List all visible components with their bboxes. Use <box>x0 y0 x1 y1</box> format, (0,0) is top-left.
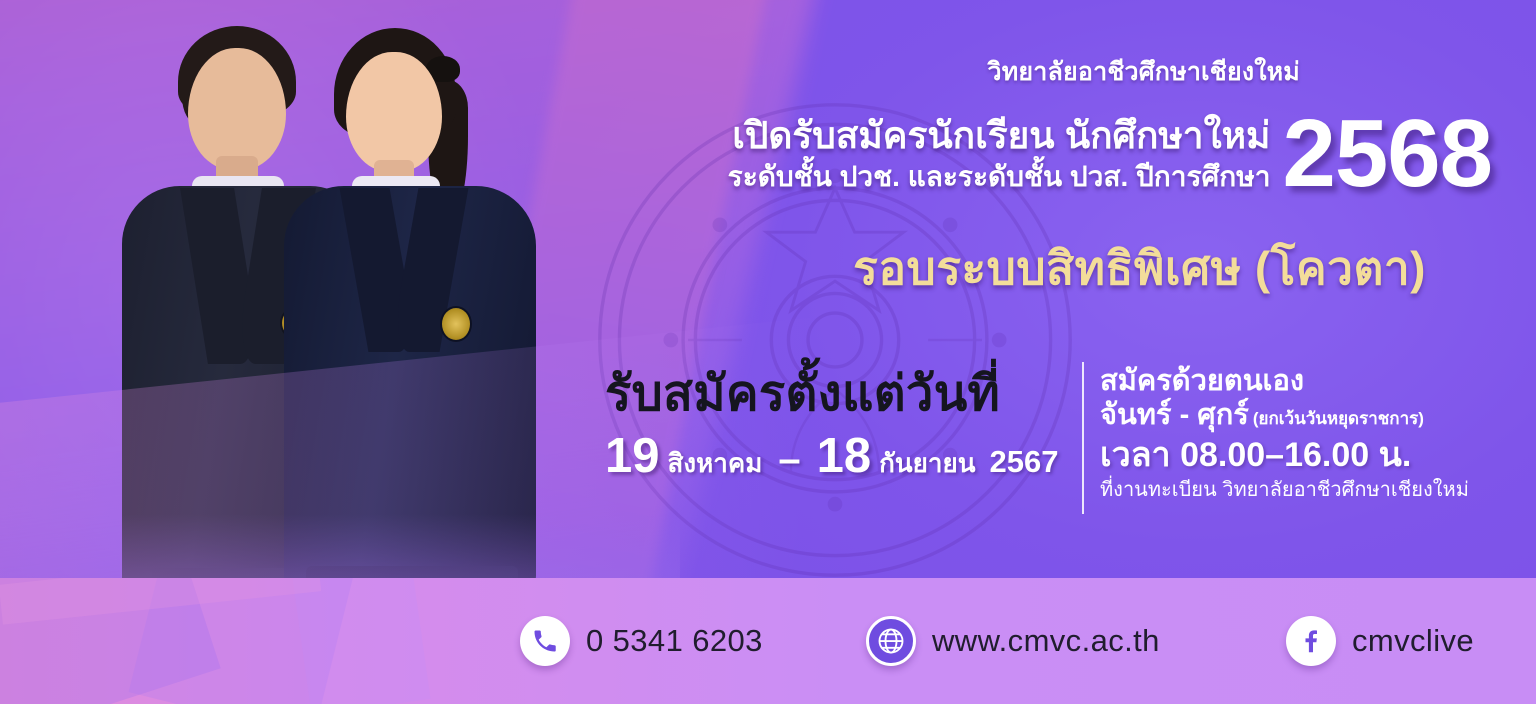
headline-text-group: เปิดรับสมัครนักเรียน นักศึกษาใหม่ ระดับช… <box>728 115 1271 194</box>
admission-banner: วิทยาลัยอาชีวศึกษาเชียงใหม่ เปิดรับสมัคร… <box>0 0 1536 704</box>
vertical-divider <box>1082 362 1084 514</box>
date-dash: – <box>778 437 800 482</box>
start-month: สิงหาคม <box>668 443 763 484</box>
globe-icon <box>866 616 916 666</box>
info-weekdays-note: (ยกเว้นวันหยุดราชการ) <box>1253 409 1424 428</box>
contact-facebook[interactable]: cmvclive <box>1286 616 1474 666</box>
organization-name: วิทยาลัยอาชีวศึกษาเชียงใหม่ <box>0 52 1536 92</box>
contact-phone[interactable]: 0 5341 6203 <box>520 616 763 666</box>
dates-title: รับสมัครตั้งแต่วันที่ <box>605 368 1065 422</box>
headline-row: เปิดรับสมัครนักเรียน นักศึกษาใหม่ ระดับช… <box>0 110 1536 198</box>
headline-line1: เปิดรับสมัครนักเรียน นักศึกษาใหม่ <box>728 115 1271 156</box>
quota-subtitle: รอบระบบสิทธิพิเศษ (โควตา) <box>0 232 1536 305</box>
info-apply-in-person: สมัครด้วยตนเอง <box>1100 364 1520 398</box>
end-day: 18 <box>817 432 872 481</box>
female-college-emblem <box>440 306 472 342</box>
info-weekdays: จันทร์ - ศุกร์(ยกเว้นวันหยุดราชการ) <box>1100 398 1520 433</box>
facebook-icon <box>1286 616 1336 666</box>
academic-year: 2568 <box>1282 110 1492 198</box>
contact-bar: 0 5341 6203 www.cmvc.ac.th <box>0 578 1536 704</box>
phone-icon <box>520 616 570 666</box>
application-info: สมัครด้วยตนเอง จันทร์ - ศุกร์(ยกเว้นวันห… <box>1100 364 1520 503</box>
info-weekdays-main: จันทร์ - ศุกร์ <box>1100 399 1249 431</box>
headline-line2: ระดับชั้น ปวช. และระดับชั้น ปวส. ปีการศึ… <box>728 160 1271 194</box>
info-location: ที่งานทะเบียน วิทยาลัยอาชีวศึกษาเชียงใหม… <box>1100 477 1520 503</box>
end-month: กันยายน <box>879 443 975 484</box>
application-dates: รับสมัครตั้งแต่วันที่ 19 สิงหาคม – 18 กั… <box>605 368 1065 484</box>
website-url: www.cmvc.ac.th <box>932 623 1160 659</box>
facebook-handle: cmvclive <box>1352 623 1474 659</box>
dates-year: 2567 <box>989 444 1058 480</box>
info-hours: เวลา 08.00–16.00 น. <box>1100 435 1520 475</box>
phone-number: 0 5341 6203 <box>586 623 763 659</box>
contact-website[interactable]: www.cmvc.ac.th <box>866 616 1160 666</box>
dates-range: 19 สิงหาคม – 18 กันยายน 2567 <box>605 432 1065 484</box>
start-day: 19 <box>605 432 660 481</box>
